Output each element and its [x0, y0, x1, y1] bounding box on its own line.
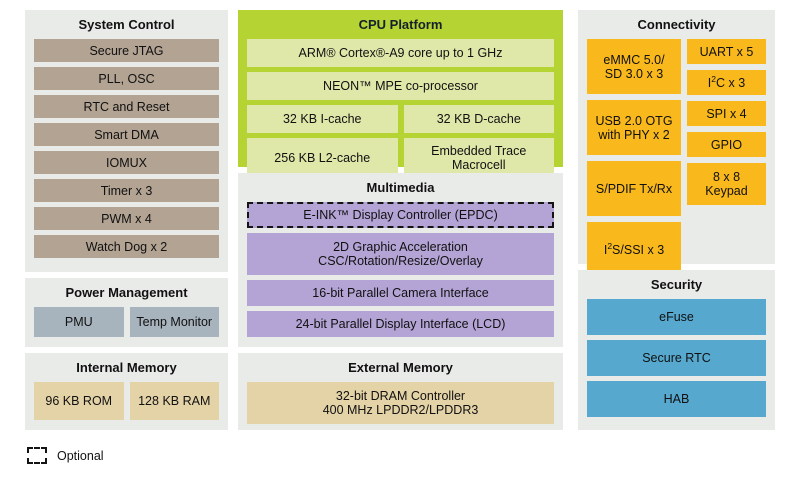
block-i2c[interactable]: I2C x 3 — [687, 70, 766, 95]
block-label: UART x 5 — [700, 45, 754, 59]
security-block-list: eFuse Secure RTC HAB — [587, 299, 766, 417]
block-label: Secure RTC — [642, 351, 711, 365]
block-label-line1: USB 2.0 OTG — [595, 114, 672, 128]
block-iomux[interactable]: IOMUX — [34, 151, 219, 174]
panel-internal-memory: Internal Memory 96 KB ROM 128 KB RAM — [25, 353, 228, 430]
panel-cpu-platform: CPU Platform ARM® Cortex®-A9 core up to … — [238, 10, 563, 167]
block-label: NEON™ MPE co-processor — [323, 79, 478, 93]
block-label: I2C x 3 — [708, 76, 745, 90]
block-parallel-camera-interface[interactable]: 16-bit Parallel Camera Interface — [247, 280, 554, 306]
block-label: IOMUX — [106, 156, 147, 170]
block-label: 16-bit Parallel Camera Interface — [312, 286, 488, 300]
block-label-line1: 8 x 8 — [713, 170, 740, 184]
block-label: eMMC 5.0/SD 3.0 x 3 — [603, 53, 664, 81]
block-hab[interactable]: HAB — [587, 381, 766, 417]
block-label: HAB — [664, 392, 690, 406]
block-epdc-optional[interactable]: E-INK™ Display Controller (EPDC) — [247, 202, 554, 228]
legend-label: Optional — [57, 449, 104, 463]
internal-memory-block-list: 96 KB ROM 128 KB RAM — [34, 382, 219, 420]
block-label: PMU — [65, 315, 93, 329]
block-pmu[interactable]: PMU — [34, 307, 124, 337]
block-parallel-display-interface[interactable]: 24-bit Parallel Display Interface (LCD) — [247, 311, 554, 337]
panel-title-multimedia: Multimedia — [247, 180, 554, 195]
block-arm-cortex-a9[interactable]: ARM® Cortex®-A9 core up to 1 GHz — [247, 39, 554, 67]
block-embedded-trace-macrocell[interactable]: Embedded TraceMacrocell — [404, 138, 555, 178]
block-keypad[interactable]: 8 x 8Keypad — [687, 163, 766, 205]
block-secure-rtc[interactable]: Secure RTC — [587, 340, 766, 376]
block-label: 2D Graphic AccelerationCSC/Rotation/Resi… — [318, 240, 483, 268]
panel-multimedia: Multimedia E-INK™ Display Controller (EP… — [238, 173, 563, 347]
block-label-line2: Keypad — [705, 184, 747, 198]
panel-title-internal-memory: Internal Memory — [34, 360, 219, 375]
block-label: Temp Monitor — [136, 315, 212, 329]
connectivity-block-grid: eMMC 5.0/SD 3.0 x 3 USB 2.0 OTGwith PHY … — [587, 39, 766, 277]
block-label: 32 KB D-cache — [437, 112, 521, 126]
block-label-line2: CSC/Rotation/Resize/Overlay — [318, 254, 483, 268]
panel-title-security: Security — [587, 277, 766, 292]
block-pwm[interactable]: PWM x 4 — [34, 207, 219, 230]
block-usb-otg[interactable]: USB 2.0 OTGwith PHY x 2 — [587, 100, 681, 155]
connectivity-left-column: eMMC 5.0/SD 3.0 x 3 USB 2.0 OTGwith PHY … — [587, 39, 681, 277]
block-label: 256 KB L2-cache — [274, 151, 370, 165]
block-label-line1: 2D Graphic Acceleration — [333, 240, 468, 254]
block-label: PLL, OSC — [98, 72, 154, 86]
block-label: ARM® Cortex®-A9 core up to 1 GHz — [299, 46, 503, 60]
superscript-2: 2 — [607, 240, 612, 250]
connectivity-right-column: UART x 5 I2C x 3 SPI x 4 GPIO 8 x 8Keypa… — [687, 39, 766, 277]
panel-title-cpu-platform: CPU Platform — [247, 17, 554, 32]
block-label: RTC and Reset — [84, 100, 170, 114]
block-l2-cache[interactable]: 256 KB L2-cache — [247, 138, 398, 178]
external-memory-block-list: 32-bit DRAM Controller400 MHz LPDDR2/LPD… — [247, 382, 554, 424]
block-label-line2: 400 MHz LPDDR2/LPDDR3 — [323, 403, 479, 417]
block-label: 128 KB RAM — [138, 394, 210, 408]
block-temp-monitor[interactable]: Temp Monitor — [130, 307, 220, 337]
block-label: USB 2.0 OTGwith PHY x 2 — [595, 114, 672, 142]
legend-optional: Optional — [27, 447, 104, 464]
block-i-cache[interactable]: 32 KB I-cache — [247, 105, 398, 133]
block-dram-controller[interactable]: 32-bit DRAM Controller400 MHz LPDDR2/LPD… — [247, 382, 554, 424]
block-label: Embedded TraceMacrocell — [431, 144, 526, 172]
cpu-platform-block-list: ARM® Cortex®-A9 core up to 1 GHz NEON™ M… — [247, 39, 554, 178]
block-timer[interactable]: Timer x 3 — [34, 179, 219, 202]
block-label: Smart DMA — [94, 128, 159, 142]
power-management-block-list: PMU Temp Monitor — [34, 307, 219, 337]
block-label: E-INK™ Display Controller (EPDC) — [303, 208, 497, 222]
block-label-line2: SD 3.0 x 3 — [603, 67, 664, 81]
block-diagram: System Control Secure JTAG PLL, OSC RTC … — [0, 0, 800, 480]
block-neon-mpe[interactable]: NEON™ MPE co-processor — [247, 72, 554, 100]
legend-dashed-swatch-icon — [27, 447, 47, 464]
block-spi[interactable]: SPI x 4 — [687, 101, 766, 126]
panel-title-external-memory: External Memory — [247, 360, 554, 375]
system-control-block-list: Secure JTAG PLL, OSC RTC and Reset Smart… — [34, 39, 219, 258]
block-label: 24-bit Parallel Display Interface (LCD) — [296, 317, 506, 331]
panel-title-system-control: System Control — [34, 17, 219, 32]
block-label: 96 KB ROM — [45, 394, 112, 408]
multimedia-block-list: E-INK™ Display Controller (EPDC) 2D Grap… — [247, 202, 554, 337]
block-label: I2S/SSI x 3 — [604, 243, 664, 257]
superscript-2: 2 — [711, 73, 716, 83]
panel-external-memory: External Memory 32-bit DRAM Controller40… — [238, 353, 563, 430]
block-d-cache[interactable]: 32 KB D-cache — [404, 105, 555, 133]
panel-system-control: System Control Secure JTAG PLL, OSC RTC … — [25, 10, 228, 272]
panel-connectivity: Connectivity eMMC 5.0/SD 3.0 x 3 USB 2.0… — [578, 10, 775, 264]
block-2d-graphic-acceleration[interactable]: 2D Graphic AccelerationCSC/Rotation/Resi… — [247, 233, 554, 275]
block-label: Secure JTAG — [89, 44, 163, 58]
block-smart-dma[interactable]: Smart DMA — [34, 123, 219, 146]
block-label-line2: with PHY x 2 — [595, 128, 672, 142]
block-label: Watch Dog x 2 — [86, 240, 168, 254]
block-label: GPIO — [711, 138, 742, 152]
panel-power-management: Power Management PMU Temp Monitor — [25, 278, 228, 347]
panel-security: Security eFuse Secure RTC HAB — [578, 270, 775, 430]
block-rom[interactable]: 96 KB ROM — [34, 382, 124, 420]
block-label: 8 x 8Keypad — [705, 170, 747, 198]
block-ram[interactable]: 128 KB RAM — [130, 382, 220, 420]
block-label: S/PDIF Tx/Rx — [596, 182, 672, 196]
block-gpio[interactable]: GPIO — [687, 132, 766, 157]
block-rtc-and-reset[interactable]: RTC and Reset — [34, 95, 219, 118]
block-uart[interactable]: UART x 5 — [687, 39, 766, 64]
block-label: SPI x 4 — [706, 107, 746, 121]
panel-title-power-management: Power Management — [34, 285, 219, 300]
panel-title-connectivity: Connectivity — [587, 17, 766, 32]
cpu-cache-row: 32 KB I-cache 32 KB D-cache — [247, 105, 554, 133]
block-emmc-sd[interactable]: eMMC 5.0/SD 3.0 x 3 — [587, 39, 681, 94]
block-label: Timer x 3 — [101, 184, 153, 198]
block-label: 32 KB I-cache — [283, 112, 362, 126]
block-label: 32-bit DRAM Controller400 MHz LPDDR2/LPD… — [323, 389, 479, 417]
block-label: eFuse — [659, 310, 694, 324]
block-label-line1: Embedded Trace — [431, 144, 526, 158]
block-i2s-ssi[interactable]: I2S/SSI x 3 — [587, 222, 681, 277]
block-label-line1: eMMC 5.0/ — [603, 53, 664, 67]
block-label: PWM x 4 — [101, 212, 152, 226]
block-label-line2: Macrocell — [431, 158, 526, 172]
block-pll-osc[interactable]: PLL, OSC — [34, 67, 219, 90]
block-efuse[interactable]: eFuse — [587, 299, 766, 335]
cpu-l2-trace-row: 256 KB L2-cache Embedded TraceMacrocell — [247, 138, 554, 178]
block-secure-jtag[interactable]: Secure JTAG — [34, 39, 219, 62]
block-spdif[interactable]: S/PDIF Tx/Rx — [587, 161, 681, 216]
block-watch-dog[interactable]: Watch Dog x 2 — [34, 235, 219, 258]
block-label-line1: 32-bit DRAM Controller — [336, 389, 465, 403]
